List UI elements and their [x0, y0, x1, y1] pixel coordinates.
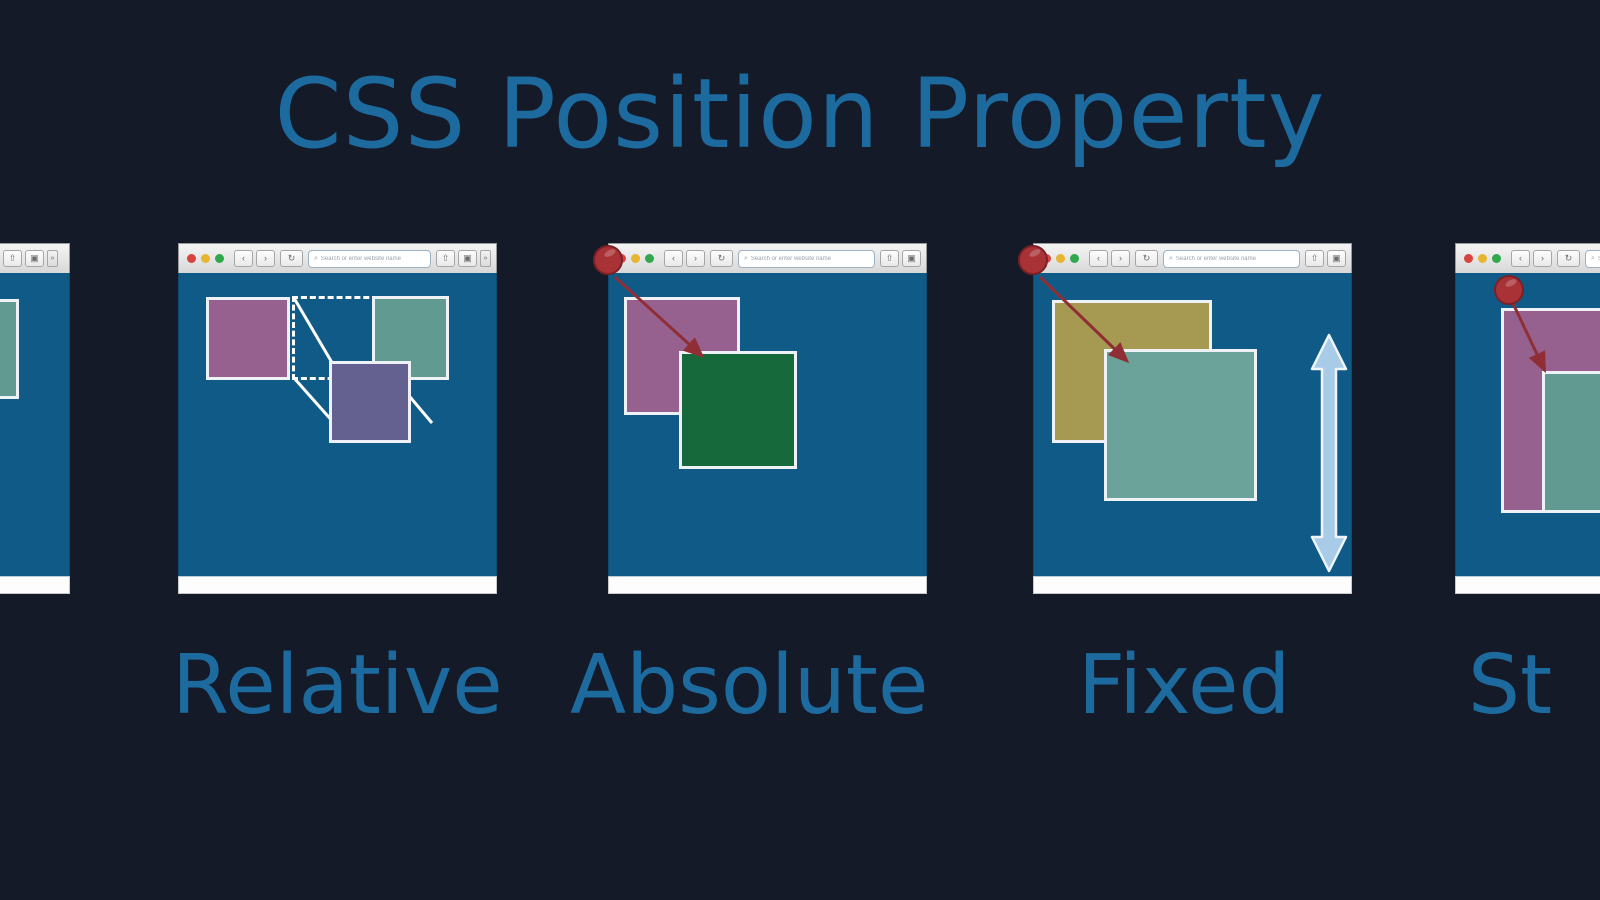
browser-chrome: ⇧ ▣ »: [0, 243, 70, 273]
url-search-input[interactable]: ⌕ Search or enter website name: [1585, 250, 1600, 268]
chrome-right-buttons: ⇧ ▣ »: [3, 250, 58, 267]
back-icon[interactable]: ‹: [234, 250, 253, 267]
browser-window-sticky: ‹ › ↻ ⌕ Search or enter website name: [1455, 243, 1600, 594]
browser-chrome: ‹ › ↻ ⌕ Search or enter website name: [1455, 243, 1600, 273]
slide-canvas: CSS Position Property ⇧ ▣ »: [0, 0, 1600, 900]
offset-slate-box: [329, 361, 411, 443]
label-absolute: Absolute: [570, 638, 928, 733]
share-icon[interactable]: ⇧: [3, 250, 22, 267]
forward-icon[interactable]: ›: [1533, 250, 1552, 267]
traffic-lights: [1464, 254, 1501, 263]
page-title: CSS Position Property: [0, 58, 1600, 170]
anchor-pin: [1494, 275, 1524, 305]
page-viewport-static: [0, 273, 70, 576]
label-sticky: St: [1468, 638, 1552, 733]
anchor-pin: [1018, 245, 1048, 275]
panel-relative: ‹ › ↻ ⌕ Search or enter website name ⇧ ▣…: [178, 243, 497, 594]
search-icon: ⌕: [1591, 255, 1595, 263]
vertical-double-arrow: [1306, 333, 1352, 573]
url-search-input[interactable]: ⌕ Search or enter website name: [308, 250, 431, 268]
chrome-right-buttons: ⇧ ▣: [880, 250, 921, 267]
reload-icon[interactable]: ↻: [1557, 250, 1580, 267]
tabs-icon[interactable]: ▣: [25, 250, 44, 267]
browser-window-relative: ‹ › ↻ ⌕ Search or enter website name ⇧ ▣…: [178, 243, 497, 594]
traffic-lights: [187, 254, 224, 263]
share-icon[interactable]: ⇧: [436, 250, 455, 267]
label-fixed: Fixed: [1078, 638, 1291, 733]
offset-arrow: [1476, 273, 1600, 433]
panel-static: ⇧ ▣ »: [0, 243, 70, 594]
maximize-icon[interactable]: [1492, 254, 1501, 263]
close-icon[interactable]: [1464, 254, 1473, 263]
panel-fixed: ‹ › ↻ ⌕ Search or enter website name ⇧ ▣: [1033, 243, 1352, 594]
window-footer: [178, 576, 497, 594]
browser-window-fixed: ‹ › ↻ ⌕ Search or enter website name ⇧ ▣: [1033, 243, 1352, 594]
maximize-icon[interactable]: [215, 254, 224, 263]
window-footer: [1455, 576, 1600, 594]
tabs-icon[interactable]: ▣: [458, 250, 477, 267]
teal-box: [0, 299, 19, 399]
browser-window-absolute: ‹ › ↻ ⌕ Search or enter website name ⇧ ▣: [608, 243, 927, 594]
nav-buttons: ‹ ›: [1511, 250, 1552, 267]
url-placeholder: Search or enter website name: [321, 256, 401, 262]
page-viewport-relative: [178, 273, 497, 576]
minimize-icon[interactable]: [201, 254, 210, 263]
window-footer: [608, 576, 927, 594]
page-viewport-sticky: [1455, 273, 1600, 576]
minimize-icon[interactable]: [1478, 254, 1487, 263]
window-footer: [1033, 576, 1352, 594]
offset-arrow: [589, 255, 809, 395]
page-viewport-fixed: [1033, 273, 1352, 576]
share-icon[interactable]: ⇧: [1305, 250, 1324, 267]
close-icon[interactable]: [187, 254, 196, 263]
forward-icon[interactable]: ›: [256, 250, 275, 267]
label-relative: Relative: [172, 638, 503, 733]
window-footer: [0, 576, 70, 594]
anchor-pin: [593, 245, 623, 275]
share-icon[interactable]: ⇧: [880, 250, 899, 267]
offset-arrow: [1014, 255, 1234, 395]
chrome-right-buttons: ⇧ ▣ »: [436, 250, 491, 267]
reload-icon[interactable]: ↻: [280, 250, 303, 267]
nav-buttons: ‹ ›: [234, 250, 275, 267]
panel-sticky: ‹ › ↻ ⌕ Search or enter website name: [1455, 243, 1600, 594]
panel-absolute: ‹ › ↻ ⌕ Search or enter website name ⇧ ▣: [608, 243, 927, 594]
page-viewport-absolute: [608, 273, 927, 576]
tabs-icon[interactable]: ▣: [902, 250, 921, 267]
purple-box: [206, 297, 290, 380]
browser-chrome: ‹ › ↻ ⌕ Search or enter website name ⇧ ▣…: [178, 243, 497, 273]
tabs-icon[interactable]: ▣: [1327, 250, 1346, 267]
search-icon: ⌕: [314, 255, 318, 263]
browser-window-static: ⇧ ▣ »: [0, 243, 70, 594]
chrome-right-buttons: ⇧ ▣: [1305, 250, 1346, 267]
overflow-icon[interactable]: »: [47, 250, 58, 267]
back-icon[interactable]: ‹: [1511, 250, 1530, 267]
overflow-icon[interactable]: »: [480, 250, 491, 267]
